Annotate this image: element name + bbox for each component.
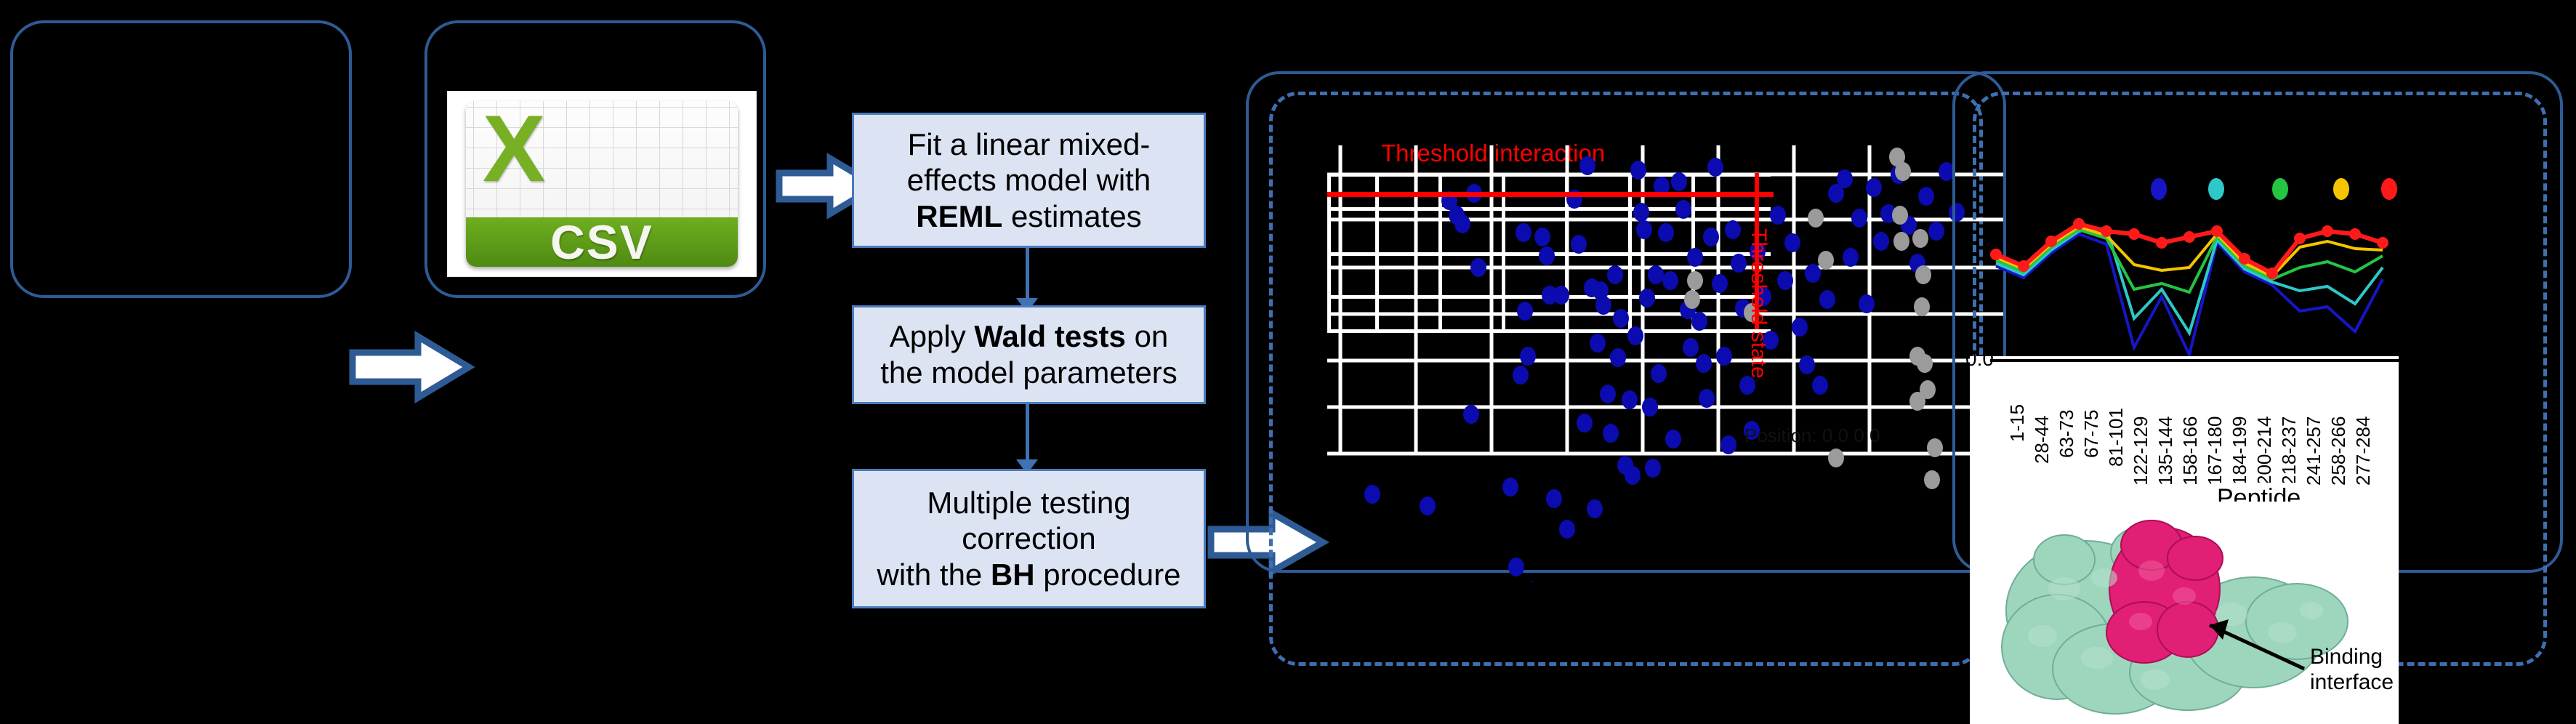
threshold-interaction-line <box>1327 192 1774 197</box>
csv-file-icon: X CSV <box>448 92 756 276</box>
peptide-axis-area: 0.0 1-15 28-44 63-73 67-75 81-101 122-12… <box>1970 356 2399 502</box>
x-tick-label: 241-257 <box>2303 417 2325 486</box>
x-tick-label: 67-75 <box>2080 410 2103 459</box>
x-tick-label: 1-15 <box>2006 404 2029 442</box>
legend-dot-yellow <box>2333 178 2349 200</box>
x-tick-label: 184-199 <box>2229 417 2251 486</box>
faint-axis-text: Position: 0.0 0.0 <box>1744 425 1880 446</box>
process-box-fit-model-text: Fit a linear mixed- effects model with R… <box>907 126 1151 235</box>
process-box-fit-model[interactable]: Fit a linear mixed- effects model with R… <box>852 113 1206 248</box>
x-tick-label: 81-101 <box>2105 408 2128 467</box>
peptide-series-lines <box>1989 209 2548 358</box>
binding-interface-label-line1: Binding <box>2310 644 2394 669</box>
csv-format-label: CSV <box>550 214 653 267</box>
protein-structure-image: Binding interface <box>1970 502 2399 724</box>
arrow-input-to-csv <box>342 323 487 411</box>
binding-interface-label: Binding interface <box>2310 644 2394 696</box>
x-tick-label: 200-214 <box>2253 417 2276 486</box>
y-tick-label: 0.0 <box>1965 347 1994 371</box>
connector-model-to-wald <box>1026 248 1029 303</box>
legend-dot-cyan <box>2208 178 2224 200</box>
panel-input <box>10 20 352 298</box>
x-tick-label: 158-166 <box>2179 417 2202 486</box>
binding-interface-label-line2: interface <box>2310 669 2394 695</box>
scatter-points: Position: 0.0 0.0 <box>1327 145 2003 582</box>
process-box-wald-tests[interactable]: Apply Wald tests on the model parameters <box>852 305 1206 404</box>
peptide-chart: 0.0 1-15 28-44 63-73 67-75 81-101 122-12… <box>1952 71 2563 573</box>
csv-icon-body: X CSV <box>466 101 737 268</box>
csv-format-band: CSV <box>466 217 737 268</box>
process-box-multiple-testing[interactable]: Multiple testing correction with the BH … <box>852 469 1206 608</box>
process-box-multiple-testing-text: Multiple testing correction with the BH … <box>877 485 1181 593</box>
connector-wald-to-bh <box>1026 404 1029 465</box>
process-box-wald-tests-text: Apply Wald tests on the model parameters <box>880 318 1178 390</box>
legend-dot-green <box>2272 178 2288 200</box>
x-tick-label: 218-237 <box>2278 417 2301 486</box>
x-tick-label: 258-266 <box>2327 417 2350 486</box>
x-tick-label: 135-144 <box>2154 417 2177 486</box>
legend-dot-blue <box>2151 178 2167 200</box>
legend-dot-red <box>2381 178 2397 200</box>
x-tick-label: 122-129 <box>2130 417 2152 486</box>
csv-x-letter: X <box>483 104 546 194</box>
x-tick-label: 167-180 <box>2204 417 2226 486</box>
x-tick-label: 28-44 <box>2031 416 2053 464</box>
x-axis-line <box>1990 359 2399 362</box>
x-tick-label: 63-73 <box>2056 410 2078 459</box>
x-tick-label: 277-284 <box>2352 417 2375 486</box>
threshold-state-label: Threshold state <box>1746 228 1771 379</box>
